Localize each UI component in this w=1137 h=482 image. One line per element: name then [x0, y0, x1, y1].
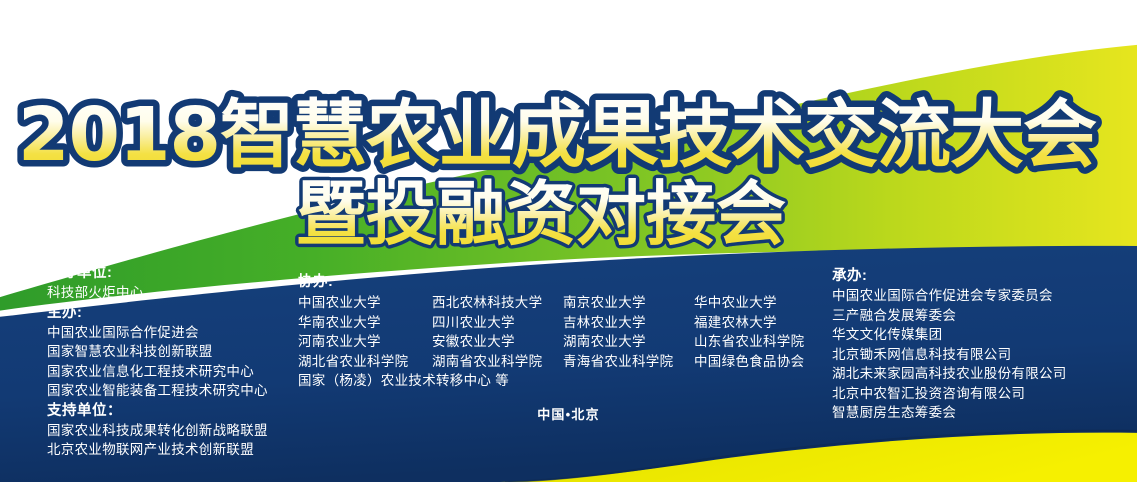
undertaker-item: 华文文化传媒集团 [832, 325, 1067, 345]
org-item: 中国农业国际合作促进会 [47, 323, 268, 343]
column-organizers-left: 指导单位: 科技部火炬中心 主办: 中国农业国际合作促进会 国家智慧农业科技创新… [47, 263, 268, 460]
event-location: 中国•北京 [0, 404, 1137, 423]
heading-guidance: 指导单位: [47, 263, 268, 283]
coorganizer-item: 南京农业大学 [563, 293, 694, 313]
undertaker-item: 湖北未来家园高科技农业股份有限公司 [832, 364, 1067, 384]
coorganizer-item: 中国绿色食品协会 [694, 352, 804, 372]
coorganizer-item: 湖南农业大学 [563, 332, 694, 352]
coorganizer-item: 湖北省农业科学院 [298, 352, 432, 372]
org-item: 科技部火炬中心 [47, 283, 268, 303]
org-item: 国家农业科技成果转化创新战略联盟 [47, 421, 268, 441]
column-undertakers-right: 承办: 中国农业国际合作促进会专家委员会 三产融合发展筹委会 华文文化传媒集团 … [832, 266, 1067, 423]
coorganizer-item: 四川农业大学 [432, 313, 563, 333]
coorganizer-item: 吉林农业大学 [563, 313, 694, 333]
coorganizer-row: 河南农业大学 安徽农业大学 湖南农业大学 山东省农业科学院 [298, 332, 804, 352]
coorganizer-item: 湖南省农业科学院 [432, 352, 563, 372]
coorganizer-item: 安徽农业大学 [432, 332, 563, 352]
coorganizer-row: 中国农业大学 西北农林科技大学 南京农业大学 华中农业大学 [298, 293, 804, 313]
heading-undertaker: 承办: [832, 266, 1067, 286]
event-banner: 2018智慧农业成果技术交流大会 2018智慧农业成果技术交流大会 暨投融资对接… [0, 0, 1137, 482]
coorganizer-item: 福建农林大学 [694, 313, 777, 333]
org-item: 国家农业信息化工程技术研究中心 [47, 362, 268, 382]
column-coorganizers-middle: 协办: 中国农业大学 西北农林科技大学 南京农业大学 华中农业大学 华南农业大学… [298, 272, 804, 391]
coorganizer-item: 华中农业大学 [694, 293, 777, 313]
org-item: 国家农业智能装备工程技术研究中心 [47, 381, 268, 401]
undertaker-item: 北京中农智汇投资咨询有限公司 [832, 384, 1067, 404]
info-columns: 指导单位: 科技部火炬中心 主办: 中国农业国际合作促进会 国家智慧农业科技创新… [0, 255, 1137, 482]
undertaker-item: 三产融合发展筹委会 [832, 306, 1067, 326]
coorganizer-item: 山东省农业科学院 [694, 332, 804, 352]
org-item: 北京农业物联网产业技术创新联盟 [47, 440, 268, 460]
coorganizer-item: 河南农业大学 [298, 332, 432, 352]
coorganizer-tail: 国家（杨凌）农业技术转移中心 等 [298, 371, 804, 391]
undertaker-item: 中国农业国际合作促进会专家委员会 [832, 286, 1067, 306]
org-item: 国家智慧农业科技创新联盟 [47, 342, 268, 362]
heading-coorganizer: 协办: [298, 272, 804, 292]
coorganizer-item: 青海省农业科学院 [563, 352, 694, 372]
heading-host: 主办: [47, 303, 268, 323]
coorganizer-item: 中国农业大学 [298, 293, 432, 313]
coorganizer-item: 华南农业大学 [298, 313, 432, 333]
undertaker-item: 北京锄禾网信息科技有限公司 [832, 345, 1067, 365]
coorganizer-row: 华南农业大学 四川农业大学 吉林农业大学 福建农林大学 [298, 313, 804, 333]
coorganizer-row: 湖北省农业科学院 湖南省农业科学院 青海省农业科学院 中国绿色食品协会 [298, 352, 804, 372]
coorganizer-item: 西北农林科技大学 [432, 293, 563, 313]
